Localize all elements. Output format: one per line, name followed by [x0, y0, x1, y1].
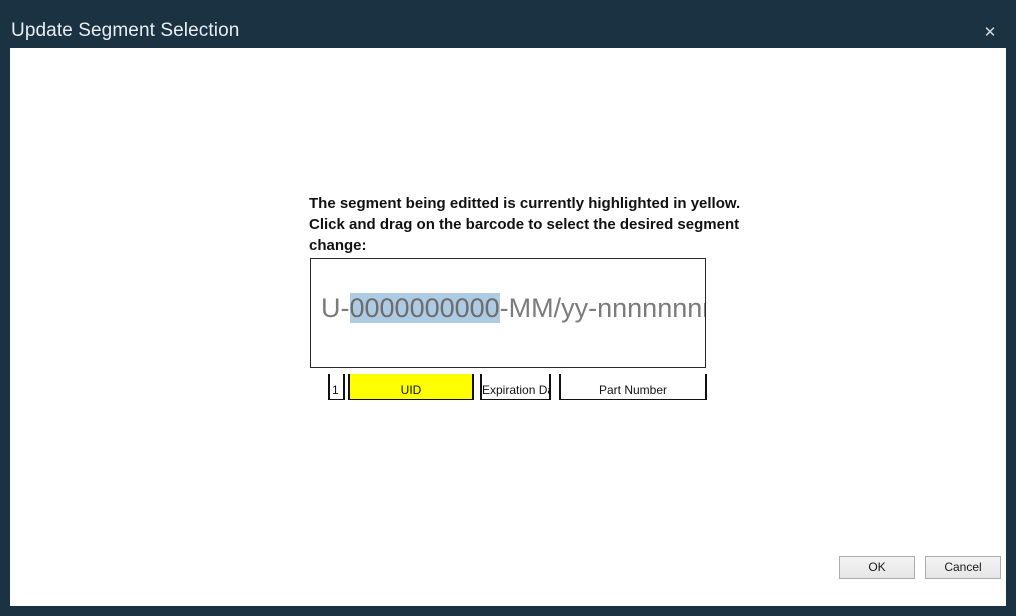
segment-label: Part Number	[561, 383, 705, 397]
segment-1[interactable]: 1	[328, 374, 345, 400]
segment-uid[interactable]: UID	[348, 374, 474, 400]
segment-label: 1	[332, 383, 343, 397]
update-segment-selection-dialog: Update Segment Selection ✕ The segment b…	[0, 0, 1016, 616]
window-title: Update Segment Selection	[11, 20, 239, 42]
barcode-pattern-text[interactable]: U-0000000000-MM/yy-nnnnnnnnnnnn	[321, 289, 706, 327]
barcode-suffix: -MM/yy-nnnnnnnnnnnn	[500, 293, 706, 323]
instruction-line-3: change:	[309, 235, 729, 256]
close-icon[interactable]: ✕	[978, 22, 1002, 44]
instruction-text: The segment being editted is currently h…	[309, 193, 729, 256]
barcode-preview-box[interactable]: U-0000000000-MM/yy-nnnnnnnnnnnn	[310, 258, 706, 368]
barcode-selected-segment[interactable]: 0000000000	[350, 293, 500, 323]
cancel-button[interactable]: Cancel	[925, 556, 1001, 579]
dialog-content: The segment being editted is currently h…	[10, 48, 1006, 606]
dialog-footer: OK Cancel	[10, 556, 1006, 606]
segment-part-number[interactable]: Part Number	[559, 374, 707, 400]
segment-label: Expiration Da	[482, 383, 549, 397]
segment-ruler[interactable]: 1UIDExpiration DaPart Number	[310, 374, 706, 402]
title-bar: Update Segment Selection ✕	[0, 0, 1016, 48]
ok-button[interactable]: OK	[839, 556, 915, 579]
barcode-prefix: U-	[321, 293, 350, 323]
segment-expiration-da[interactable]: Expiration Da	[480, 374, 551, 400]
segment-label: UID	[350, 383, 472, 397]
instruction-line-1: The segment being editted is currently h…	[309, 193, 729, 214]
instruction-line-2: Click and drag on the barcode to select …	[309, 214, 729, 235]
